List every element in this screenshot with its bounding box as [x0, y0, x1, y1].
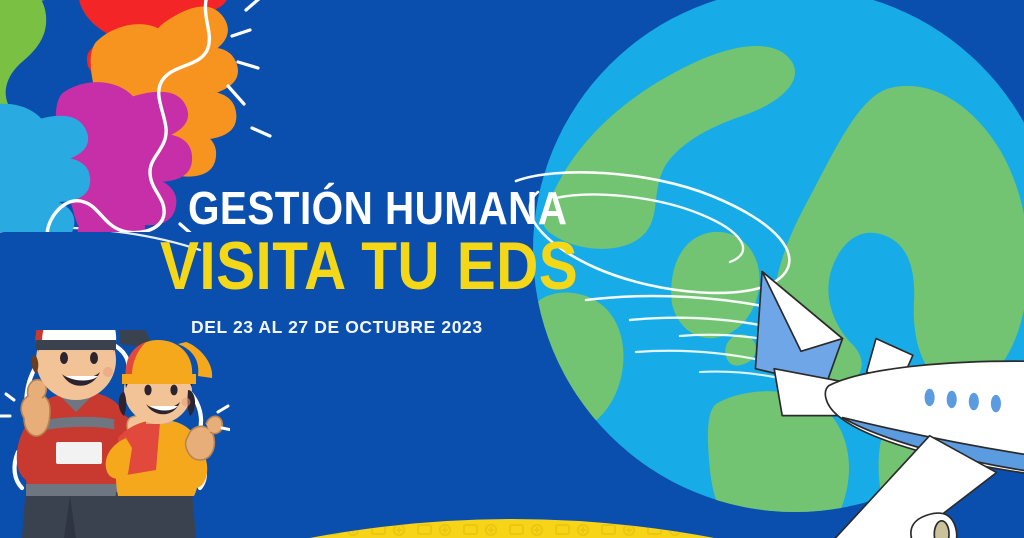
green-hand — [0, 0, 60, 138]
headline-line-2: VISITA TU EDS — [160, 234, 545, 299]
red-hand — [78, 0, 228, 78]
attendant-red — [17, 302, 157, 538]
plane-windows — [925, 389, 1024, 435]
mascot-sparkles — [0, 394, 232, 430]
promo-banner: GESTIÓN HUMANA VISITA TU EDS DEL 23 AL 2… — [0, 0, 1024, 538]
cyan-hand — [0, 104, 90, 269]
event-date-text: DEL 23 AL 27 DE OCTUBRE 2023 — [191, 317, 608, 338]
thumbs-up-left — [21, 380, 50, 436]
airplane-icon — [755, 238, 1024, 538]
orange-hand — [91, 6, 238, 177]
thumbs-up-right — [186, 416, 223, 460]
mascot-white-outline — [15, 339, 205, 488]
headline-line-1: GESTIÓN HUMANA — [188, 186, 558, 230]
attendant-yellow — [106, 340, 223, 538]
headline-block: GESTIÓN HUMANA VISITA TU EDS DEL 23 AL 2… — [188, 186, 608, 338]
